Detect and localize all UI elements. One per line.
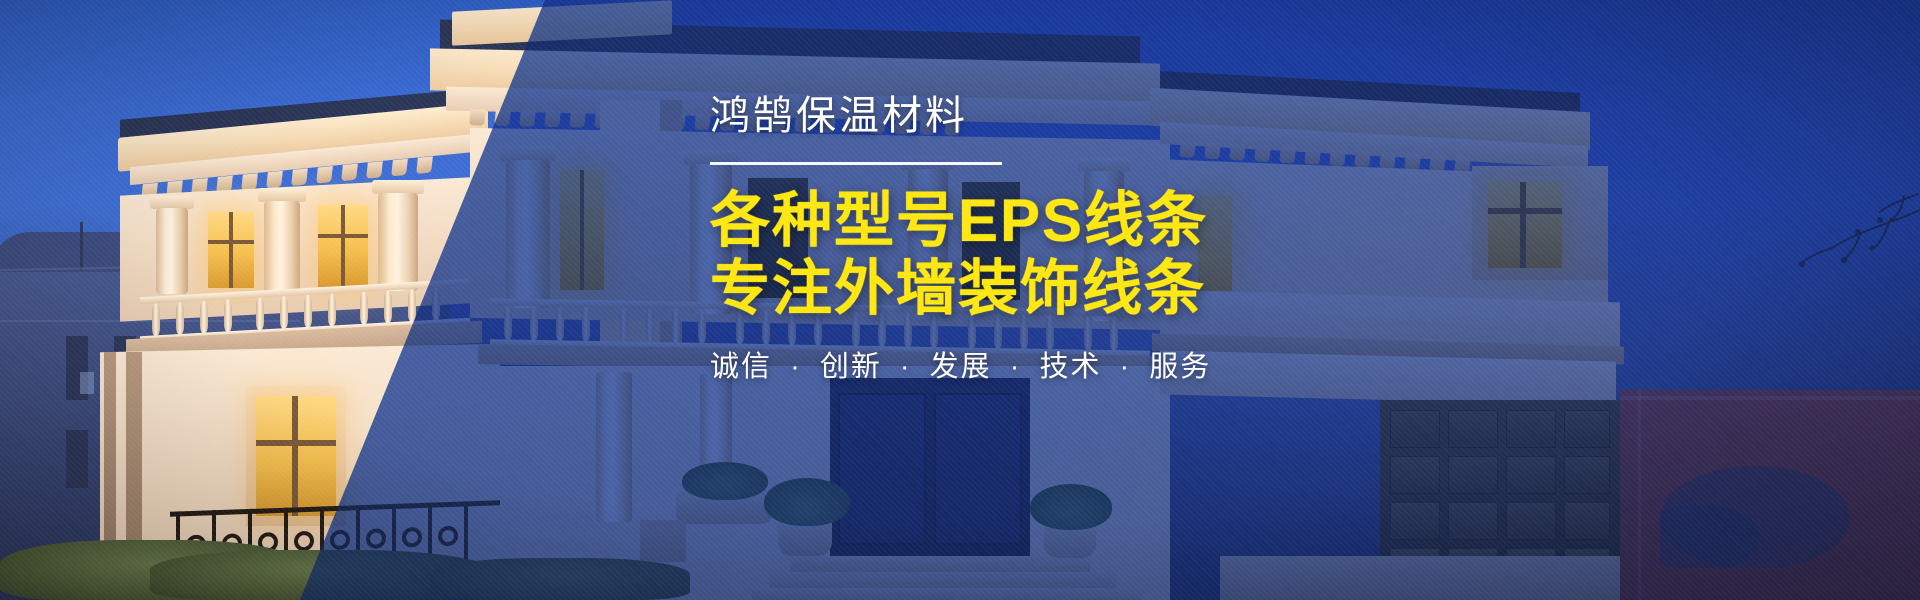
tagline: 诚信 · 创新 · 发展 · 技术 · 服务 xyxy=(710,353,1610,382)
tagline-separator: · xyxy=(1010,351,1022,383)
window-mullion xyxy=(229,212,233,288)
tagline-separator: · xyxy=(1120,351,1132,383)
window-mullion xyxy=(256,440,336,446)
brand-name: 鸿鹄保温材料 xyxy=(710,96,1610,136)
window-mullion xyxy=(208,240,254,244)
baluster xyxy=(224,299,232,332)
column xyxy=(264,201,300,293)
baluster xyxy=(328,293,336,326)
fence-ring xyxy=(294,531,314,552)
tagline-item-1: 诚信 xyxy=(710,351,772,383)
baluster xyxy=(200,300,208,333)
baluster xyxy=(152,303,160,336)
column xyxy=(156,208,188,294)
column-capital xyxy=(372,180,424,194)
window-mullion xyxy=(341,205,345,287)
tagline-separator: · xyxy=(900,351,912,383)
downpipe xyxy=(104,352,116,542)
baluster xyxy=(280,296,288,329)
tagline-item-3: 发展 xyxy=(930,351,992,383)
tagline-item-5: 服务 xyxy=(1149,351,1211,383)
pilaster xyxy=(126,352,142,562)
column xyxy=(378,193,418,291)
baluster xyxy=(384,290,392,323)
banner-copy: 鸿鹄保温材料 各种型号EPS线条 专注外墙装饰线条 诚信 · 创新 · 发展 ·… xyxy=(710,96,1610,382)
hero-banner: 鸿鹄保温材料 各种型号EPS线条 专注外墙装饰线条 诚信 · 创新 · 发展 ·… xyxy=(0,0,1920,600)
baluster xyxy=(176,302,184,335)
tagline-separator: · xyxy=(790,351,802,383)
tagline-item-2: 创新 xyxy=(820,351,882,383)
column-capital xyxy=(258,188,306,202)
headline-line-1: 各种型号EPS线条 xyxy=(710,187,1610,255)
window-mullion xyxy=(318,234,368,238)
baluster xyxy=(256,297,264,330)
window-mullion xyxy=(292,396,298,516)
divider-rule xyxy=(710,162,1002,165)
baluster xyxy=(360,291,368,324)
tagline-item-4: 技术 xyxy=(1039,351,1101,383)
headline: 各种型号EPS线条 专注外墙装饰线条 xyxy=(710,187,1610,323)
headline-line-2: 专注外墙装饰线条 xyxy=(710,255,1610,323)
baluster xyxy=(304,295,312,328)
